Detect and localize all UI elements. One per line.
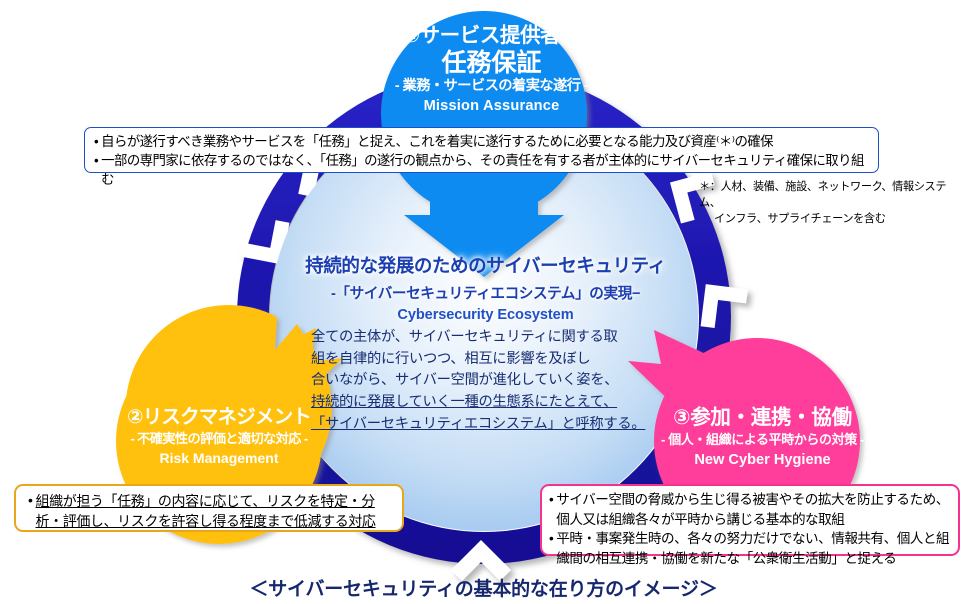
callout-bullet: • 平時・事案発生時の、各々の努力だけでない、情報共有、個人と組織間の相互連携・…: [549, 529, 952, 568]
risk-management-callout: • 組織が担う「任務」の内容に応じて、リスクを特定・分析・評価し、リスクを許容し…: [14, 484, 404, 532]
center-body: 全ての主体が、サイバーセキュリティに関する取 組を自律的に行いつつ、相互に影響を…: [293, 327, 678, 436]
center-concept-block: 持続的な発展のためのサイバーセキュリティ -「サイバーセキュリティエコシステム」…: [293, 252, 678, 436]
center-subheading: -「サイバーセキュリティエコシステム」の実現−: [293, 282, 678, 303]
center-heading: 持続的な発展のためのサイバーセキュリティ: [293, 252, 678, 278]
asterisk-footnote: ＊：人材、装備、施設、ネットワーク、情報システム、 インフラ、サプライチェーンを…: [699, 180, 954, 228]
bullet-text: 平時・事案発生時の、各々の努力だけでない、情報共有、個人と組織間の相互連携・協働…: [556, 529, 952, 568]
bullet-marker: •: [94, 132, 98, 151]
center-body-line: 「サイバーセキュリティエコシステム」と呼称する。: [311, 414, 678, 436]
bullet-text: 組織が担う「任務」の内容に応じて、リスクを特定・分析・評価し、リスクを許容し得る…: [36, 491, 396, 532]
mission-assurance-english: Mission Assurance: [349, 98, 634, 114]
center-body-line: 組を自律的に行いつつ、相互に影響を及ぼし: [311, 349, 678, 371]
center-body-line: 合いながら、サイバー空間が進化していく姿を、: [311, 370, 678, 392]
mission-assurance-subtitle: - 業務・サービスの着実な遂行 -: [349, 79, 634, 95]
bullet-marker: •: [549, 529, 553, 548]
center-body-line: 全ての主体が、サイバーセキュリティに関する取: [311, 327, 678, 349]
mission-assurance-title: ①サービス提供者の: [349, 25, 634, 48]
bullet-text: 自らが遂行すべき業務やサービスを「任務」と捉え、これを着実に遂行するために必要と…: [101, 132, 871, 151]
mission-assurance-label: ①サービス提供者の 任務保証 - 業務・サービスの着実な遂行 - Mission…: [349, 25, 634, 114]
participation-english: New Cyber Hygiene: [620, 452, 905, 468]
bullet-marker: •: [28, 491, 33, 511]
diagram-caption: ＜サイバーセキュリティの基本的な在り方のイメージ＞: [0, 574, 967, 601]
callout-bullet: • サイバー空間の脅威から生じ得る被害やその拡大を防止するため、個人又は組織各々…: [549, 490, 952, 529]
risk-management-english: Risk Management: [84, 451, 354, 467]
footnote-line-1: ＊：人材、装備、施設、ネットワーク、情報システム、: [699, 180, 954, 212]
footnote-line-2: インフラ、サプライチェーンを含む: [699, 212, 954, 228]
mission-assurance-callout: • 自らが遂行すべき業務やサービスを「任務」と捉え、これを着実に遂行するために必…: [84, 127, 879, 173]
bullet-text: サイバー空間の脅威から生じ得る被害やその拡大を防止するため、個人又は組織各々が平…: [556, 490, 952, 529]
diagram-canvas: ①サービス提供者の 任務保証 - 業務・サービスの着実な遂行 - Mission…: [0, 0, 967, 604]
participation-callout: • サイバー空間の脅威から生じ得る被害やその拡大を防止するため、個人又は組織各々…: [540, 484, 960, 556]
bullet-marker: •: [94, 151, 98, 170]
callout-bullet: • 組織が担う「任務」の内容に応じて、リスクを特定・分析・評価し、リスクを許容し…: [28, 491, 396, 532]
center-body-line: 持続的に発展していく一種の生態系にたとえて、: [311, 392, 678, 414]
mission-assurance-main: 任務保証: [349, 49, 634, 77]
bullet-marker: •: [549, 490, 553, 509]
callout-bullet: • 自らが遂行すべき業務やサービスを「任務」と捉え、これを着実に遂行するために必…: [94, 132, 871, 151]
center-english: Cybersecurity Ecosystem: [293, 307, 678, 323]
